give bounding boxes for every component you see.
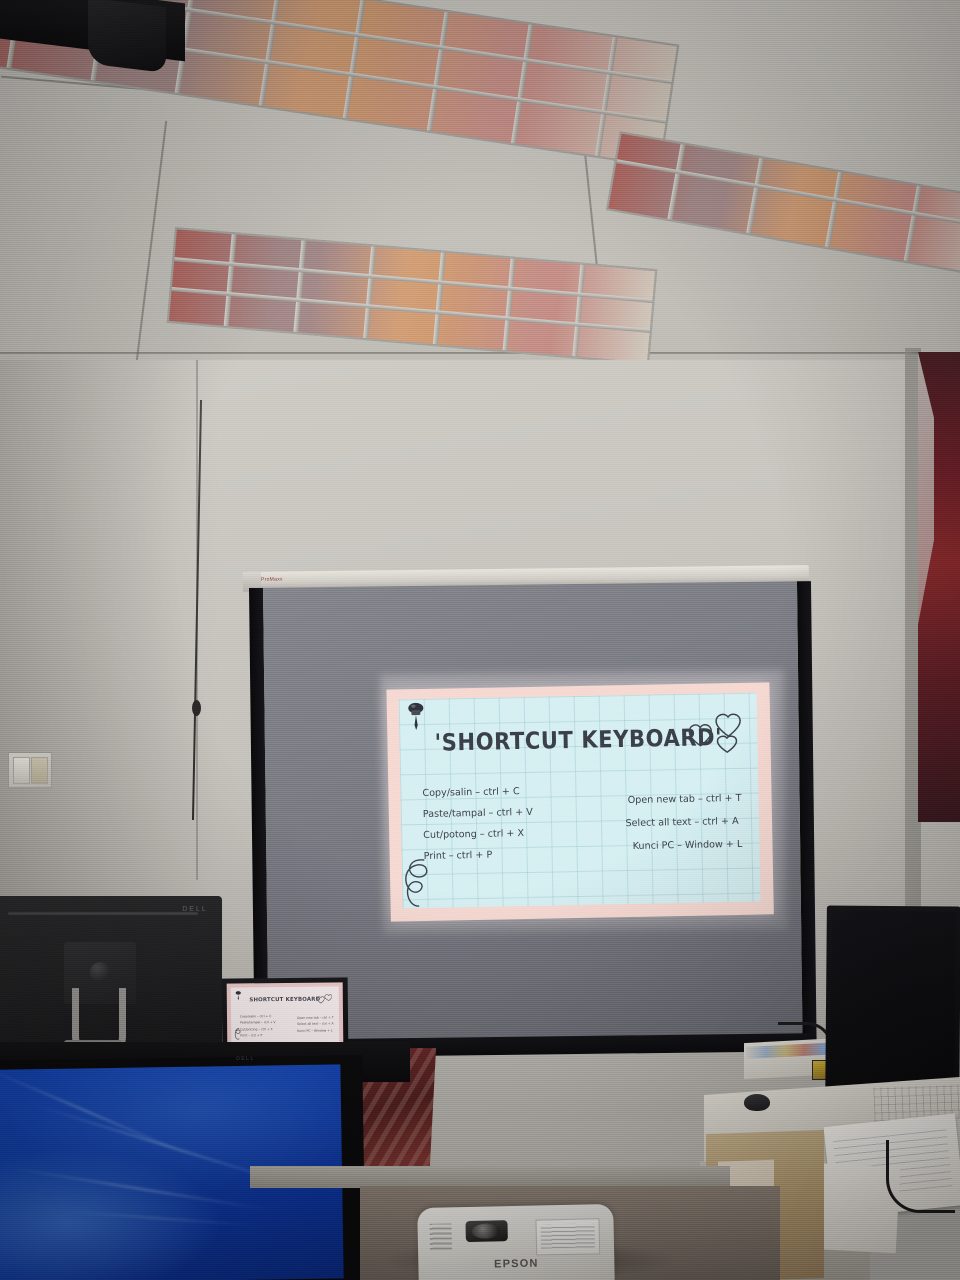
shortcut-item: Print – ctrl + P [423,843,598,867]
card-pink-border: SHORTCUT KEYBOARD Copy/salin – ctrl + C … [227,982,344,1049]
light-switch-a[interactable] [13,757,30,784]
ceiling-light-fixture-3 [606,131,960,276]
right-desk-cable [886,1140,955,1213]
screen-surface: 'SHORTCUT KEYBOARD' Copy/salin – ctrl + … [263,581,803,1042]
card-right-column: Open new tab – ctrl + T Select all text … [297,1014,334,1034]
right-monitor-screen[interactable] [830,910,956,1088]
ceiling [0,0,960,372]
projector-lens [465,1220,507,1242]
cable-clip [192,700,201,716]
epson-projector: EPSON [417,1204,615,1280]
shortcut-item: Select all text – ctrl + A [597,809,761,835]
tv-brand: DELL [236,1055,276,1063]
left-monitor-brand: DELL [178,906,212,918]
card-hearts-icon [316,994,332,1007]
projector-label-sticker [535,1218,600,1255]
projected-slide: 'SHORTCUT KEYBOARD' Copy/salin – ctrl + … [386,682,773,921]
red-wall-banner [918,352,960,822]
card-shortcut-item: Kunci PC – Window + L [297,1027,334,1034]
hearts-icon [683,711,746,760]
shortcut-item: Kunci PC – Window + L [597,832,760,858]
slide-grid-paper: 'SHORTCUT KEYBOARD' Copy/salin – ctrl + … [399,693,761,909]
baseboard [250,1166,730,1188]
card-shortcut-item: Print – ctrl + P [240,1032,276,1039]
light-switch-plate[interactable] [8,752,52,788]
squiggle-doodle-icon [400,856,443,909]
ceiling-projector [88,0,166,73]
shortcut-item: Open new tab – ctrl + T [596,786,760,812]
card-left-column: Copy/salin – ctrl + C Paste/tampal – ctr… [240,1013,276,1039]
projector-vent [430,1223,453,1249]
light-switch-b[interactable] [31,757,48,784]
card-paper: SHORTCUT KEYBOARD Copy/salin – ctrl + C … [231,986,340,1044]
screen-housing-label: ProMaxx [261,577,283,583]
classroom-photo: ProMaxx 'SHORTCUT KEYBOARD' [0,0,960,1280]
slide-right-column: Open new tab – ctrl + T Select all text … [596,786,760,858]
ceiling-light-fixture-2 [167,227,658,365]
card-squiggle-icon [233,1027,244,1042]
slide-left-column: Copy/salin – ctrl + C Paste/tampal – ctr… [422,780,599,867]
pushpin-icon [405,701,428,731]
mouse[interactable] [744,1094,770,1111]
projector-brand: EPSON [418,1256,614,1272]
